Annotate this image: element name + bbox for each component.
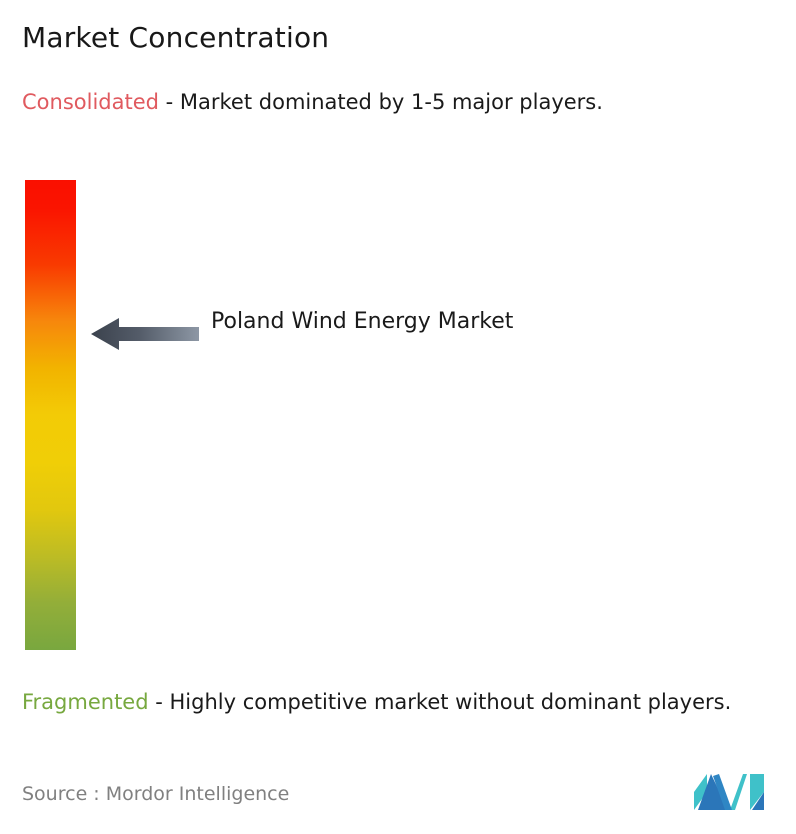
legend-consolidated-description: - Market dominated by 1-5 major players. xyxy=(159,90,603,114)
callout-label: Poland Wind Energy Market xyxy=(211,305,541,339)
market-concentration-chart: Market Concentration Consolidated - Mark… xyxy=(0,0,796,834)
legend-consolidated-keyword: Consolidated xyxy=(22,90,159,114)
left-arrow-icon xyxy=(91,314,199,354)
legend-fragmented-keyword: Fragmented xyxy=(22,690,149,714)
source-text: Source : Mordor Intelligence xyxy=(22,781,289,807)
mordor-intelligence-logo-icon xyxy=(694,768,776,816)
legend-consolidated: Consolidated - Market dominated by 1-5 m… xyxy=(22,86,767,118)
legend-fragmented-description: - Highly competitive market without domi… xyxy=(149,690,732,714)
concentration-gradient-bar xyxy=(25,180,76,650)
page-title: Market Concentration xyxy=(22,20,329,56)
legend-fragmented: Fragmented - Highly competitive market w… xyxy=(22,686,782,718)
